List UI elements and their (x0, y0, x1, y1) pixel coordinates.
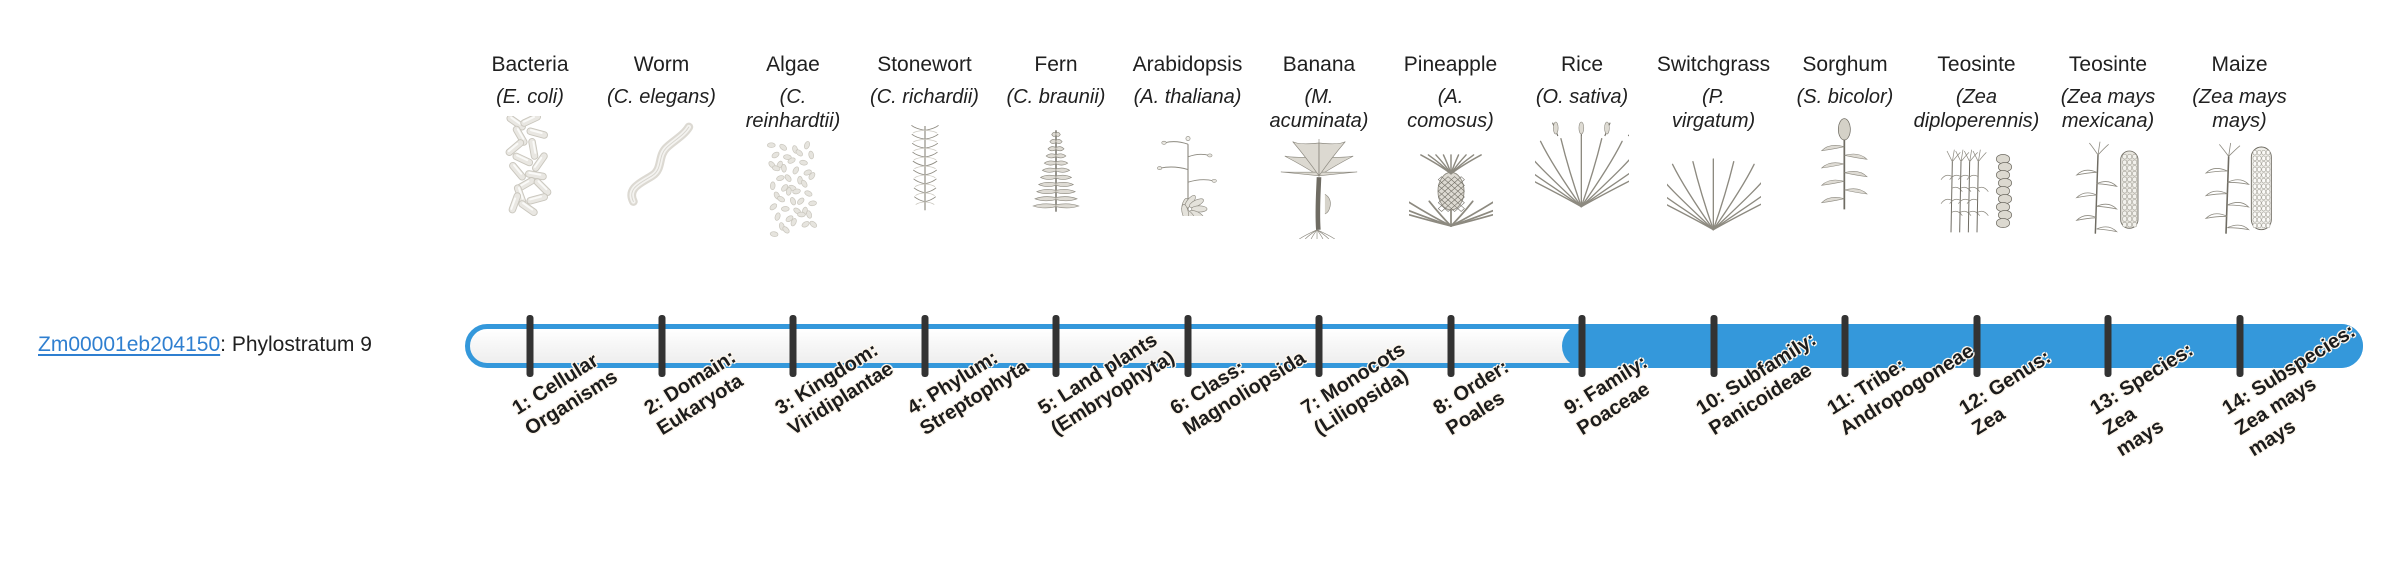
species-scientific-name: (P. virgatum) (1672, 86, 1755, 133)
bacteria-rods-icon (464, 116, 596, 216)
tick-mark (1053, 315, 1060, 377)
species-scientific-name: (Zea mays mexicana) (2061, 86, 2155, 133)
species-common-name: Algae (766, 52, 820, 77)
species-common-name: Worm (634, 52, 690, 77)
species-common-name: Pineapple (1404, 52, 1497, 77)
species-common-name: Rice (1561, 52, 1603, 77)
species-common-name: Sorghum (1802, 52, 1887, 77)
phylostratum-progress-bar[interactable] (465, 324, 2363, 368)
sorghum-plant-icon (1779, 116, 1911, 216)
switchgrass-plant-icon (1648, 139, 1780, 239)
green-algae-cells-icon (727, 139, 859, 239)
species-scientific-name: (C. elegans) (607, 86, 716, 110)
teosinte-diploperennis-icon (1911, 139, 2043, 239)
species-column: Fern (C. braunii) (990, 52, 1122, 216)
species-scientific-name: (Zea mays mays) (2192, 86, 2286, 133)
rank-label: 8: Order: Poales (1429, 355, 1526, 441)
tick-mark (1710, 315, 1717, 377)
species-column: Maize (Zea mays mays) (2174, 52, 2306, 239)
species-column: Pineapple (A. comosus) (1385, 52, 1517, 239)
species-column: Worm (C. elegans) (596, 52, 728, 216)
species-column: Arabidopsis (A. thaliana) (1122, 52, 1254, 216)
species-common-name: Bacteria (491, 52, 568, 77)
species-common-name: Fern (1034, 52, 1077, 77)
species-common-name: Teosinte (1937, 52, 2015, 77)
species-scientific-name: (Zea diploperennis) (1914, 86, 2040, 133)
tick-mark (1447, 315, 1454, 377)
species-common-name: Teosinte (2069, 52, 2147, 77)
species-scientific-name: (M. acuminata) (1270, 86, 1369, 133)
stonewort-alga-icon (859, 116, 991, 216)
species-column: Teosinte (Zea mays mexicana) (2042, 52, 2174, 239)
tick-mark (1579, 315, 1586, 377)
phylostratum-value: Phylostratum 9 (232, 333, 372, 356)
species-scientific-name: (S. bicolor) (1797, 86, 1894, 110)
species-column: Bacteria (E. coli) (464, 52, 596, 216)
tick-mark (2236, 315, 2243, 377)
tick-mark (790, 315, 797, 377)
species-common-name: Banana (1283, 52, 1355, 77)
species-scientific-name: (C. reinhardtii) (746, 86, 840, 133)
species-scientific-name: (C. braunii) (1007, 86, 1106, 110)
species-column: Teosinte (Zea diploperennis) (1911, 52, 2043, 239)
tick-mark (1842, 315, 1849, 377)
species-scientific-name: (A. comosus) (1407, 86, 1494, 133)
tick-mark (1973, 315, 1980, 377)
teosinte-mexicana-icon (2042, 139, 2174, 239)
species-common-name: Switchgrass (1657, 52, 1770, 77)
species-common-name: Maize (2211, 52, 2267, 77)
species-common-name: Stonewort (877, 52, 972, 77)
species-column: Stonewort (C. richardii) (859, 52, 991, 216)
species-scientific-name: (C. richardii) (870, 86, 979, 110)
label-separator: : (220, 333, 232, 356)
maize-plant-cob-icon (2174, 139, 2306, 239)
gene-accession-link[interactable]: Zm00001eb204150 (38, 333, 220, 356)
tick-mark (1316, 315, 1323, 377)
nematode-worm-icon (596, 116, 728, 216)
species-common-name: Arabidopsis (1133, 52, 1243, 77)
tick-mark (527, 315, 534, 377)
species-column: Sorghum (S. bicolor) (1779, 52, 1911, 216)
species-column: Algae (C. reinhardtii) (727, 52, 859, 239)
species-scientific-name: (O. sativa) (1536, 86, 1628, 110)
rice-plant-icon (1516, 116, 1648, 216)
tick-mark (921, 315, 928, 377)
tick-mark (1184, 315, 1191, 377)
tick-mark (2105, 315, 2112, 377)
gene-phylostratum-label: Zm00001eb204150: Phylostratum 9 (38, 333, 372, 357)
fern-frond-icon (990, 116, 1122, 216)
species-column: Rice (O. sativa) (1516, 52, 1648, 216)
species-column: Banana (M. acuminata) (1253, 52, 1385, 239)
pineapple-plant-icon (1385, 139, 1517, 239)
species-scientific-name: (E. coli) (496, 86, 564, 110)
banana-plant-icon (1253, 139, 1385, 239)
species-column: Switchgrass (P. virgatum) (1648, 52, 1780, 239)
phylostratigraphy-figure: Zm00001eb204150: Phylostratum 9 Bacteria… (0, 0, 2400, 580)
species-scientific-name: (A. thaliana) (1134, 86, 1242, 110)
arabidopsis-plant-icon (1122, 116, 1254, 216)
tick-mark (658, 315, 665, 377)
